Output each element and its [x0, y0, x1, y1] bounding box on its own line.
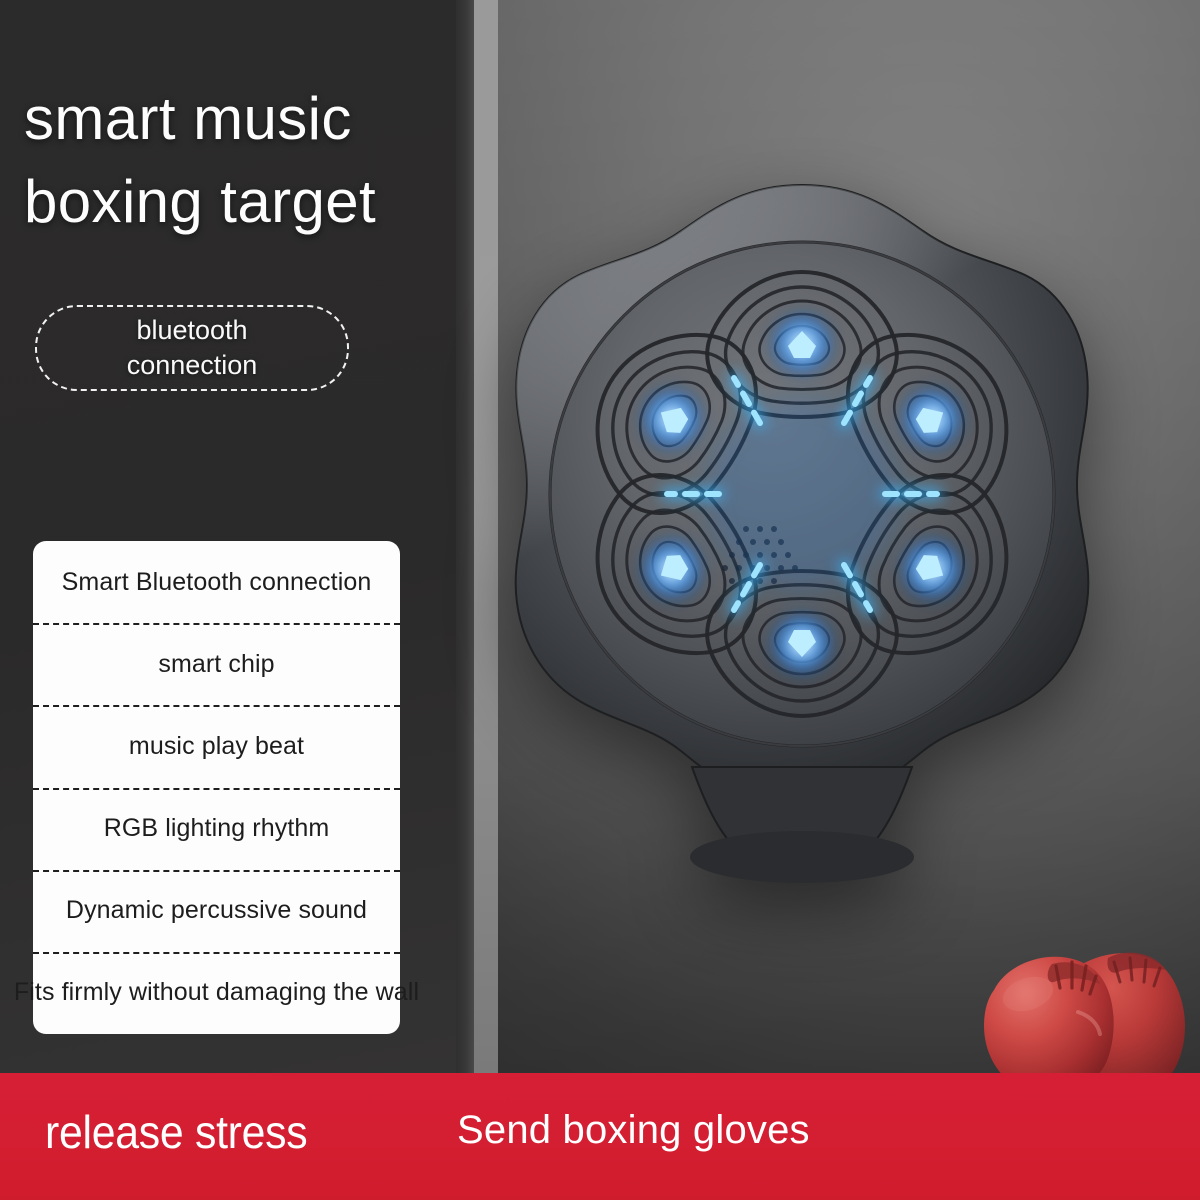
- feature-label: smart chip: [158, 650, 274, 679]
- feature-label: Dynamic percussive sound: [66, 896, 367, 925]
- boxing-pad-icon: [487, 167, 1117, 907]
- feature-label: music play beat: [129, 732, 304, 761]
- feature-row: smart chip: [33, 623, 400, 705]
- feature-row: Fits firmly without damaging the wall: [33, 952, 400, 1034]
- badge-line-1: bluetooth: [136, 313, 247, 348]
- feature-label: Fits firmly without damaging the wall: [14, 978, 419, 1007]
- badge-line-2: connection: [127, 348, 258, 383]
- feature-row: Dynamic percussive sound: [33, 870, 400, 952]
- banner-release-stress-text: release stress: [45, 1105, 307, 1159]
- feature-list: Smart Bluetooth connection smart chip mu…: [33, 541, 400, 1034]
- product-device: [487, 167, 1117, 907]
- feature-row: music play beat: [33, 705, 400, 787]
- background-divider-shadow: [455, 0, 474, 1073]
- bluetooth-connection-badge: bluetooth connection: [35, 305, 349, 391]
- feature-label: RGB lighting rhythm: [104, 814, 330, 843]
- feature-row: Smart Bluetooth connection: [33, 541, 400, 623]
- feature-label: Smart Bluetooth connection: [62, 568, 372, 597]
- feature-row: RGB lighting rhythm: [33, 788, 400, 870]
- banner-send-gloves-text: Send boxing gloves: [457, 1108, 810, 1153]
- product-advertisement-image: smart music boxing target bluetooth conn…: [0, 0, 1200, 1200]
